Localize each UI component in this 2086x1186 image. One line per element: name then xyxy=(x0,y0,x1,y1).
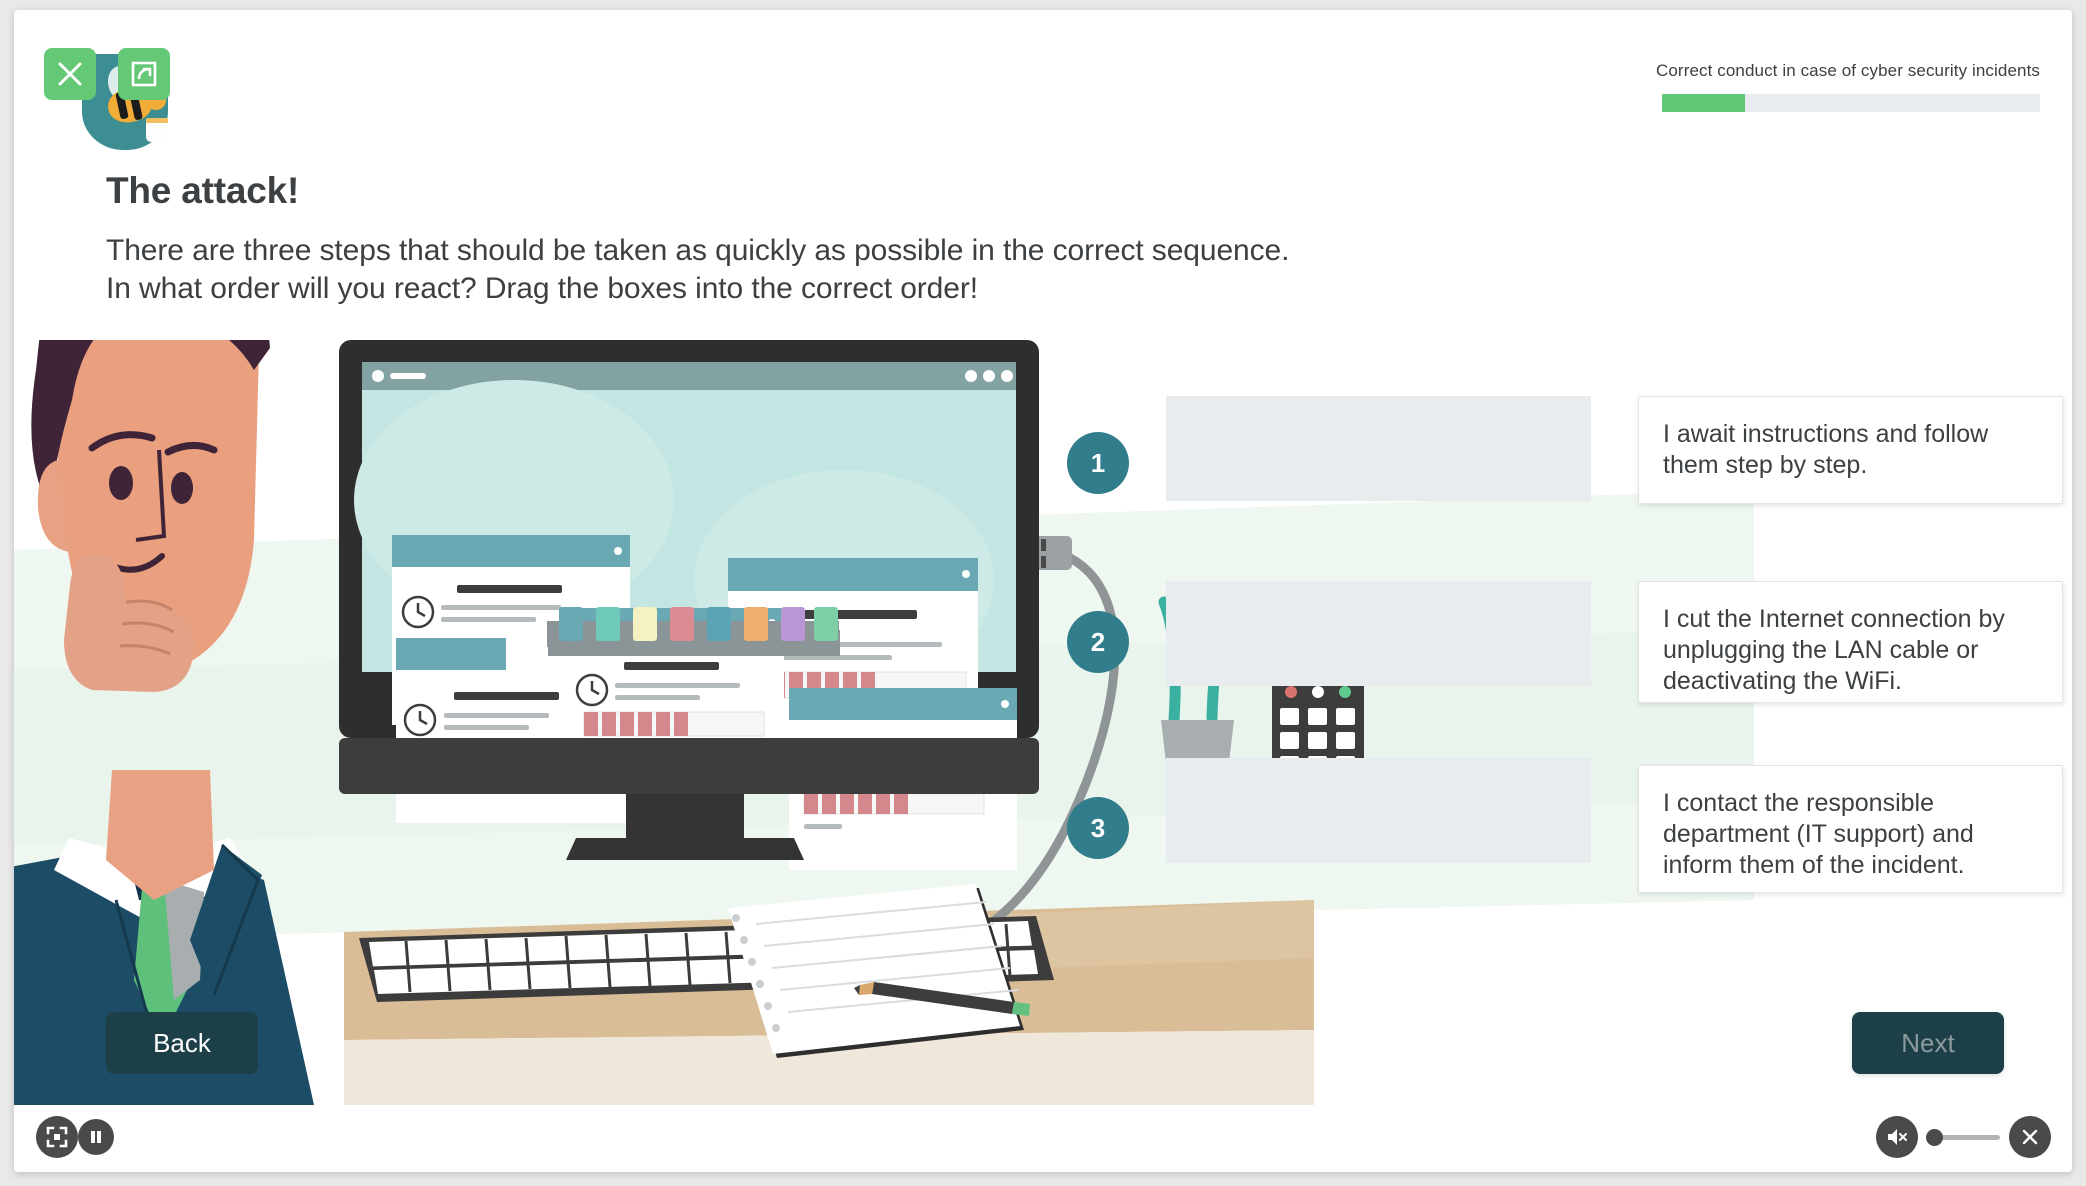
progress-label: Correct conduct in case of cyber securit… xyxy=(1650,60,2040,82)
drop-zone-1[interactable] xyxy=(1166,396,1591,501)
honey-pot-icon xyxy=(146,118,168,142)
close-icon xyxy=(2020,1127,2040,1147)
page-title: The attack! xyxy=(106,170,299,212)
expand-icon xyxy=(130,60,158,88)
answer-card-3[interactable]: I contact the responsible department (IT… xyxy=(1638,765,2063,893)
back-button[interactable]: Back xyxy=(106,1012,258,1074)
slot-badge-1: 1 xyxy=(1067,432,1129,494)
fullscreen-button[interactable] xyxy=(36,1116,78,1158)
progress-track xyxy=(1662,94,2040,112)
pause-icon xyxy=(88,1129,104,1145)
volume-track xyxy=(1936,1135,2000,1140)
exit-button[interactable] xyxy=(2009,1116,2051,1158)
description-line-1: There are three steps that should be tak… xyxy=(106,232,1289,270)
slide-stage: Correct conduct in case of cyber securit… xyxy=(14,10,2072,1105)
slot-badge-3: 3 xyxy=(1067,797,1129,859)
volume-knob[interactable] xyxy=(1926,1129,1943,1146)
close-icon xyxy=(55,59,85,89)
progress-fill xyxy=(1662,94,1745,112)
volume-slider[interactable] xyxy=(1926,1133,2000,1141)
drop-zone-2[interactable] xyxy=(1166,581,1591,686)
course-progress: Correct conduct in case of cyber securit… xyxy=(1650,60,2040,112)
volume-muted-icon xyxy=(1885,1126,1909,1148)
page-description: There are three steps that should be tak… xyxy=(106,232,1289,308)
close-button[interactable] xyxy=(44,48,96,100)
mute-button[interactable] xyxy=(1876,1116,1918,1158)
answer-card-2[interactable]: I cut the Internet connection by unplugg… xyxy=(1638,581,2063,703)
expand-button[interactable] xyxy=(118,48,170,100)
next-button[interactable]: Next xyxy=(1852,1012,2004,1074)
slot-badge-2: 2 xyxy=(1067,611,1129,673)
pause-button[interactable] xyxy=(78,1119,114,1155)
description-line-2: In what order will you react? Drag the b… xyxy=(106,270,1289,308)
drop-zone-3[interactable] xyxy=(1166,758,1591,863)
fullscreen-icon xyxy=(46,1126,68,1148)
player-control-bar xyxy=(14,1105,2072,1172)
course-player-window: Correct conduct in case of cyber securit… xyxy=(14,10,2072,1172)
answer-card-1[interactable]: I await instructions and follow them ste… xyxy=(1638,396,2063,504)
